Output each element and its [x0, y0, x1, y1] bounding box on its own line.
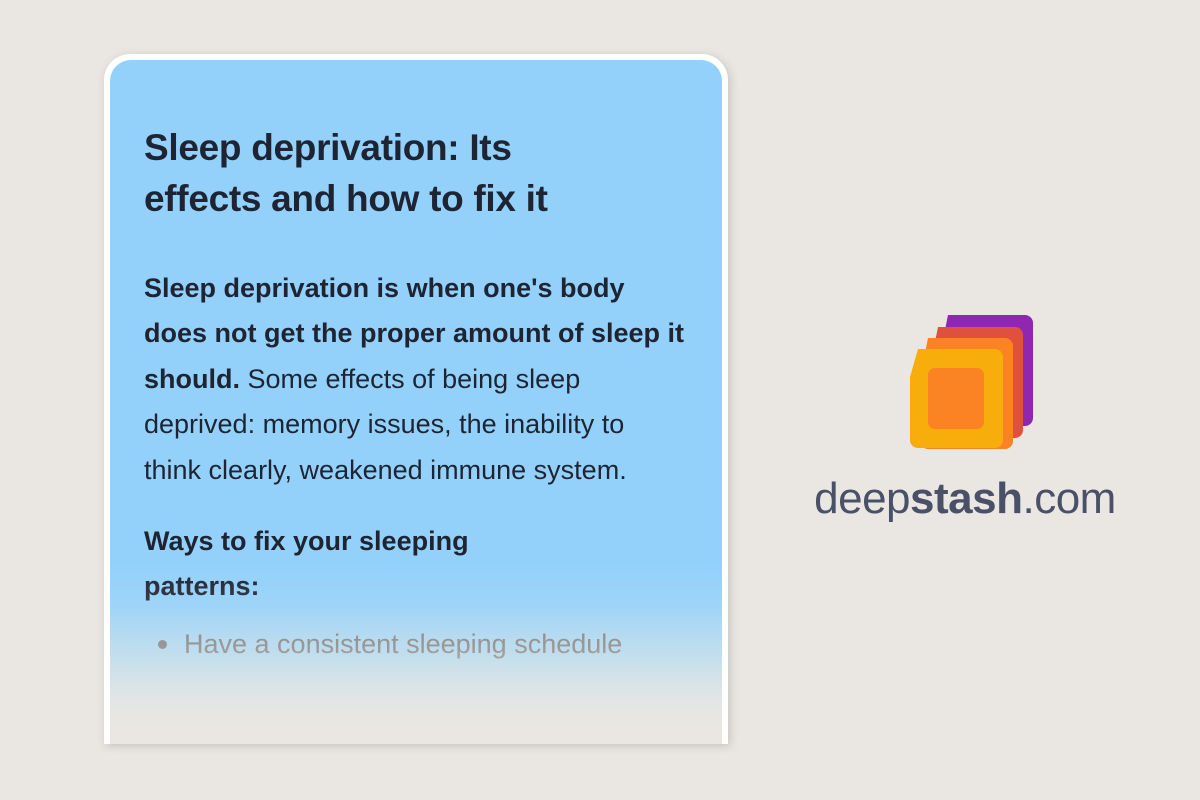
- screenshot-stage: Sleep deprivation: Its effects and how t…: [0, 0, 1200, 800]
- wordmark-deep: deep: [814, 474, 910, 523]
- article-card[interactable]: Sleep deprivation: Its effects and how t…: [104, 54, 728, 744]
- brand-wordmark: deepstash.com: [800, 477, 1130, 521]
- article-card-surface: Sleep deprivation: Its effects and how t…: [110, 60, 722, 744]
- wordmark-stash: stash: [910, 474, 1022, 523]
- wordmark-tld: .com: [1022, 474, 1115, 523]
- article-bullet-list: Have a consistent sleeping schedule: [144, 622, 688, 667]
- brand-block: deepstash.com: [800, 305, 1130, 521]
- article-paragraph: Sleep deprivation is when one's body doe…: [144, 266, 688, 493]
- page-title: Sleep deprivation: Its effects and how t…: [144, 122, 614, 224]
- article-card-content: Sleep deprivation: Its effects and how t…: [110, 60, 722, 673]
- article-subheading: Ways to fix your sleeping patterns:: [144, 519, 584, 610]
- list-item: Have a consistent sleeping schedule: [144, 622, 688, 667]
- stacked-cards-logo-icon: [890, 305, 1040, 455]
